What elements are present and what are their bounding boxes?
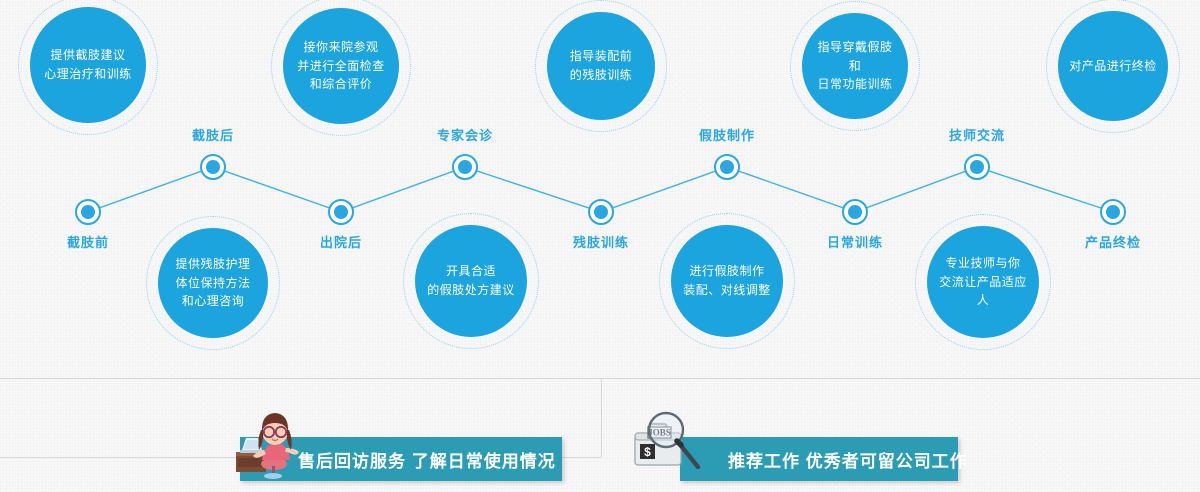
flow-node-label: 专家会诊	[437, 125, 493, 144]
flow-node-label: 日常训练	[827, 232, 883, 251]
banner-after-sales-label: 售后回访服务 了解日常使用情况	[298, 447, 556, 472]
flow-node-2[interactable]	[200, 154, 226, 180]
flow-node-3[interactable]	[328, 199, 354, 225]
flow-node-9[interactable]	[1100, 199, 1126, 225]
magnifier-jobs-icon: JOBS $	[631, 411, 707, 479]
info-bubble[interactable]: 提供截肢建议心理治疗和训练	[30, 7, 146, 123]
flow-node-6[interactable]	[714, 154, 740, 180]
info-bubble[interactable]: 提供残肢护理体位保持方法和心理咨询	[158, 228, 268, 338]
flow-node-4[interactable]	[452, 154, 478, 180]
info-bubble-text: 指导装配前的残肢训练	[560, 47, 643, 84]
info-bubble[interactable]: 指导装配前的残肢训练	[547, 12, 655, 120]
woman-at-desk-icon	[232, 408, 304, 480]
info-bubble-text: 开具合适的假肢处方建议	[417, 262, 525, 299]
info-bubble[interactable]: 进行假肢制作装配、对线调整	[671, 225, 783, 337]
flow-diagram-page: 提供截肢建议心理治疗和训练接你来院参观并进行全面检查和综合评价指导装配前的残肢训…	[0, 0, 1200, 492]
banner-job-referral[interactable]: 推荐工作 优秀者可留公司工作	[680, 437, 958, 481]
info-bubble-text: 指导穿戴假肢和日常功能训练	[802, 38, 908, 94]
flow-node-label: 截肢前	[67, 232, 109, 251]
info-bubble-text: 接你来院参观并进行全面检查和综合评价	[287, 38, 395, 94]
info-bubble-text: 对产品进行终检	[1059, 57, 1167, 76]
flow-node-1[interactable]	[75, 199, 101, 225]
info-bubble[interactable]: 接你来院参观并进行全面检查和综合评价	[283, 8, 399, 124]
info-bubble[interactable]: 开具合适的假肢处方建议	[415, 225, 527, 337]
flow-node-label: 残肢训练	[573, 232, 629, 251]
flow-node-label: 出院后	[320, 232, 362, 251]
flow-node-label: 产品终检	[1085, 232, 1141, 251]
info-bubble-text: 进行假肢制作装配、对线调整	[673, 262, 781, 299]
flow-node-7[interactable]	[842, 199, 868, 225]
divider-vertical	[601, 378, 602, 457]
info-bubble-text: 提供截肢建议心理治疗和训练	[34, 46, 142, 83]
flow-node-8[interactable]	[964, 154, 990, 180]
info-bubble[interactable]: 专业技师与你交流让产品适应人	[927, 226, 1039, 338]
flow-node-label: 假肢制作	[699, 125, 755, 144]
flow-node-label: 截肢后	[192, 125, 234, 144]
info-bubble[interactable]: 指导穿戴假肢和日常功能训练	[802, 13, 908, 119]
banner-job-referral-label: 推荐工作 优秀者可留公司工作	[728, 447, 968, 472]
info-bubble-text: 提供残肢护理体位保持方法和心理咨询	[165, 255, 260, 311]
svg-text:$: $	[644, 445, 651, 459]
info-bubble-text: 专业技师与你交流让产品适应人	[927, 254, 1039, 310]
flow-node-label: 技师交流	[949, 125, 1005, 144]
info-bubble[interactable]: 对产品进行终检	[1058, 11, 1168, 121]
divider-horizontal-top	[0, 378, 1200, 379]
flow-node-5[interactable]	[588, 199, 614, 225]
